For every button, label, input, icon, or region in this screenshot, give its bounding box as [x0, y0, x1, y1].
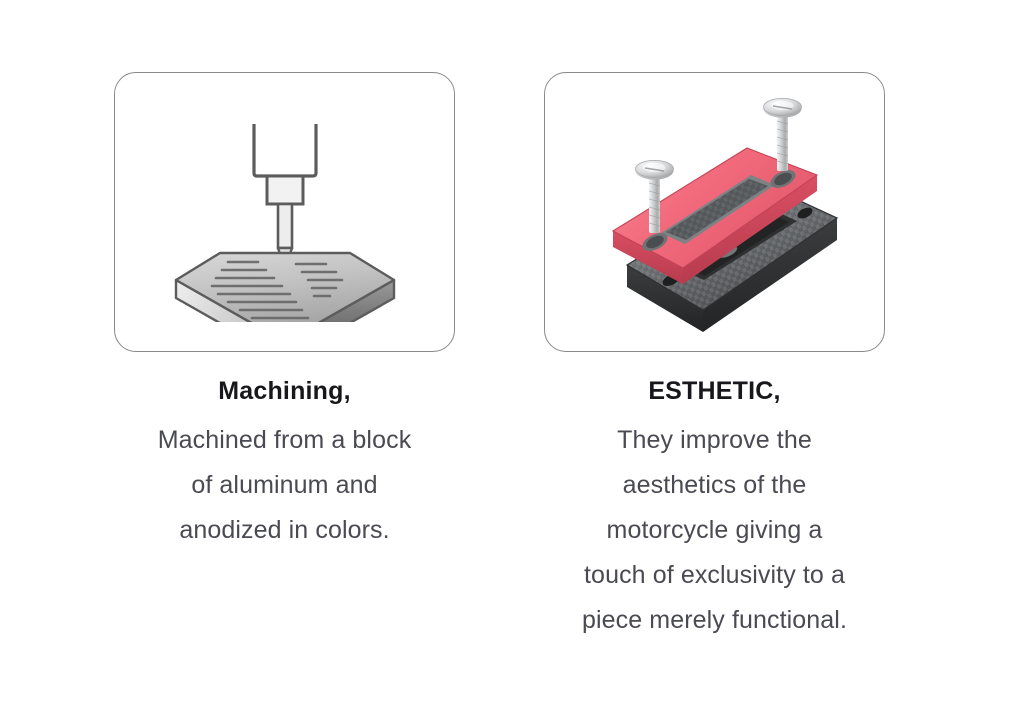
caption-machining: Machining, Machined from a block of alum…: [105, 374, 465, 553]
anodized-plate-with-screws-icon: [565, 87, 865, 337]
cnc-milling-machine-icon: [150, 102, 420, 322]
feature-title-machining: Machining,: [105, 374, 465, 408]
body-line: of aluminum and: [105, 463, 465, 508]
body-line: They improve the: [535, 418, 895, 463]
body-line: Machined from a block: [105, 418, 465, 463]
feature-body-machining: Machined from a block of aluminum and an…: [105, 418, 465, 553]
feature-item-esthetic: ESTHETIC, They improve the aesthetics of…: [543, 72, 886, 643]
body-line: motorcycle giving a: [535, 508, 895, 553]
icon-card-machining: [114, 72, 455, 352]
body-line: touch of exclusivity to a: [535, 553, 895, 598]
feature-title-esthetic: ESTHETIC,: [535, 374, 895, 408]
body-line: piece merely functional.: [535, 598, 895, 643]
body-line: aesthetics of the: [535, 463, 895, 508]
icon-card-esthetic: [544, 72, 885, 352]
feature-item-machining: Machining, Machined from a block of alum…: [113, 72, 456, 553]
feature-grid: Machining, Machined from a block of alum…: [0, 0, 1024, 707]
feature-body-esthetic: They improve the aesthetics of the motor…: [535, 418, 895, 643]
caption-esthetic: ESTHETIC, They improve the aesthetics of…: [535, 374, 895, 643]
body-line: anodized in colors.: [105, 508, 465, 553]
